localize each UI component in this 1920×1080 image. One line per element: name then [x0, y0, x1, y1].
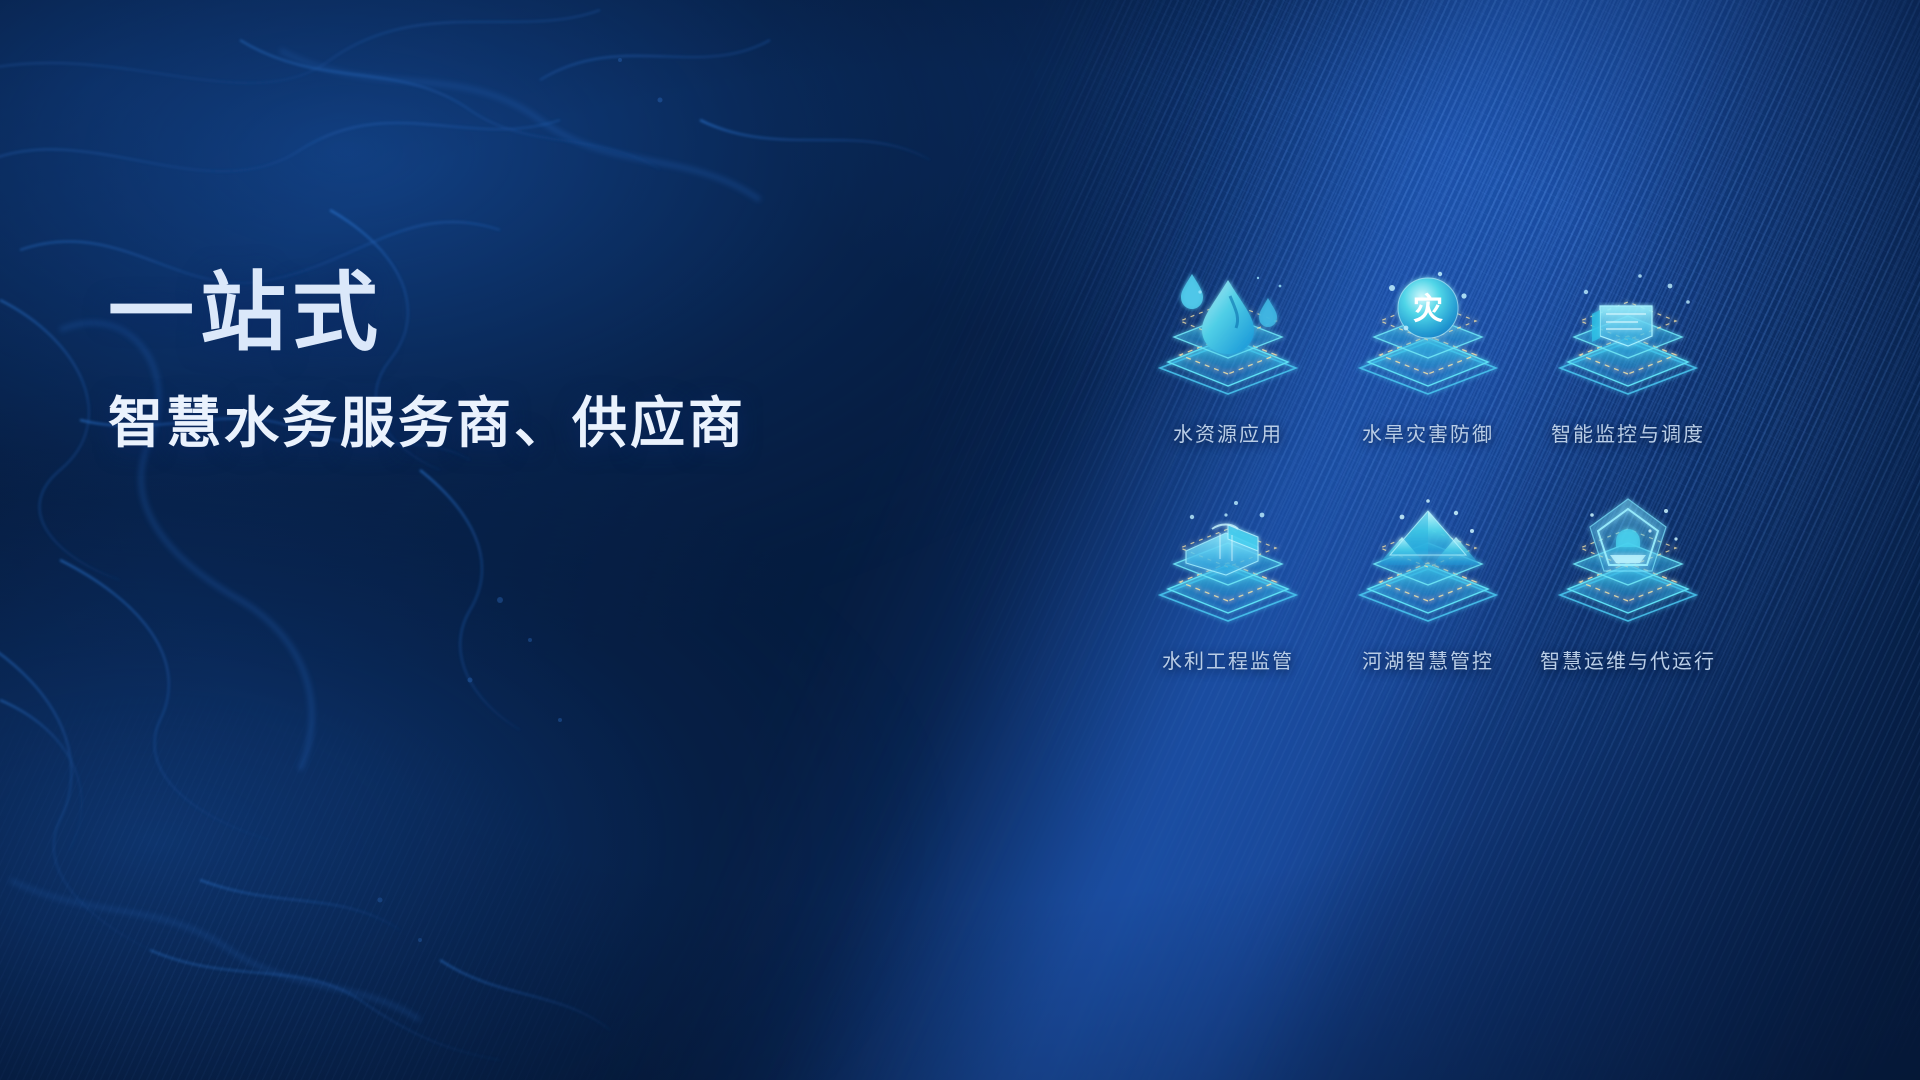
capability-card-smart-monitoring-dispatch[interactable]: 智能监控与调度	[1528, 262, 1728, 447]
page-subtitle: 智慧水务服务商、供应商	[108, 390, 928, 456]
capability-label: 水资源应用	[1173, 418, 1283, 447]
capability-card-smart-ops-outsourcing[interactable]: 智慧运维与代运行	[1528, 489, 1728, 674]
background-diagonal-mesh-lower-left	[0, 540, 864, 1080]
page-title: 一站式	[108, 268, 928, 358]
capability-grid: 水资源应用	[1128, 262, 1728, 674]
slide-canvas: 一站式 智慧水务服务商、供应商	[0, 0, 1920, 1080]
capability-label: 智能监控与调度	[1551, 418, 1705, 447]
disaster-character: 灾	[1413, 292, 1443, 326]
capability-label: 河湖智慧管控	[1362, 645, 1494, 674]
capability-label: 水旱灾害防御	[1362, 418, 1494, 447]
capability-label: 水利工程监管	[1162, 645, 1294, 674]
capability-card-flood-drought-defense[interactable]: 灾 水旱灾害防御	[1328, 262, 1528, 447]
capability-card-hydro-project-supervision[interactable]: 水利工程监管	[1128, 489, 1328, 674]
headline-block: 一站式 智慧水务服务商、供应商	[108, 268, 928, 456]
capability-card-river-lake-smart-control[interactable]: 河湖智慧管控	[1328, 489, 1528, 674]
engineering-structure-icon	[1140, 489, 1316, 639]
shield-pentagon-icon	[1540, 489, 1716, 639]
disaster-sphere-icon: 灾	[1340, 262, 1516, 412]
capability-card-water-resource[interactable]: 水资源应用	[1128, 262, 1328, 447]
water-drop-icon	[1140, 262, 1316, 412]
mountain-river-icon	[1340, 489, 1516, 639]
capability-label: 智慧运维与代运行	[1540, 645, 1716, 674]
monitor-dam-icon	[1540, 262, 1716, 412]
